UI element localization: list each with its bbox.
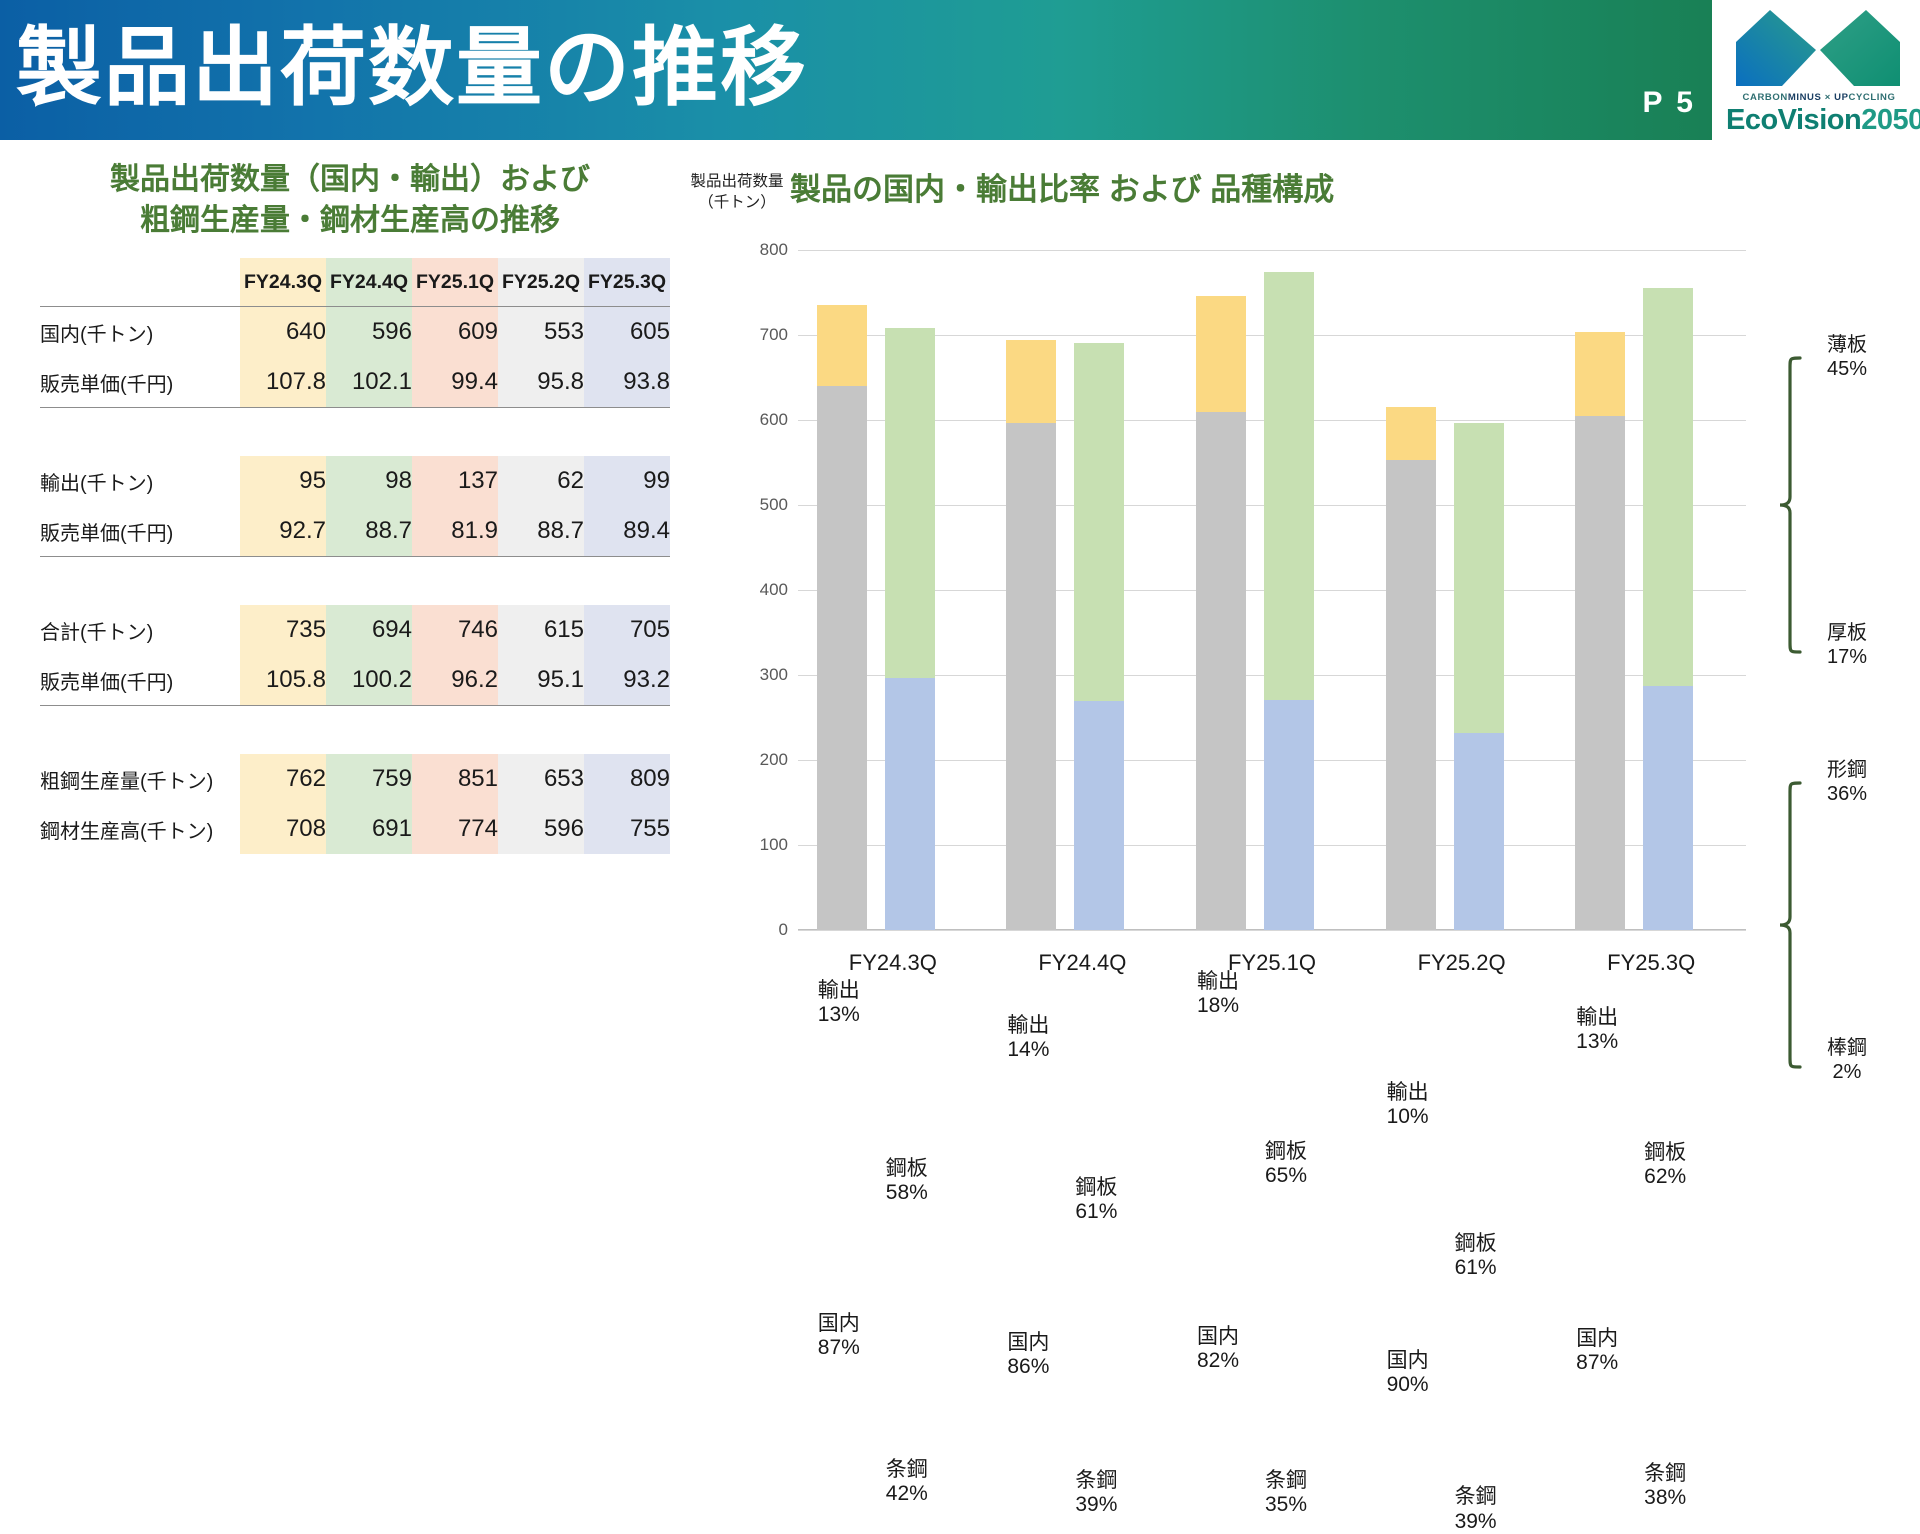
- chart-segment-label: 輸出10%: [1360, 1081, 1456, 1129]
- logo-wordmark-eco: EcoVision: [1726, 104, 1861, 136]
- chart-segment-label: 鋼板61%: [1048, 1176, 1144, 1224]
- chart-segment-name: 条鋼: [886, 1458, 928, 1481]
- chart-segment-name: 輸出: [1576, 1006, 1618, 1029]
- table-row: 販売単価(千円) 105.8 100.2 96.2 95.1 93.2: [40, 655, 670, 705]
- cell-value: 809: [584, 754, 670, 804]
- chart-bar-segment-条鋼[interactable]: [1074, 701, 1124, 931]
- left-panel-title-line2: 粗鋼生産量・鋼材生産高の推移: [10, 201, 690, 242]
- chart-segment-label: 鋼板58%: [859, 1157, 955, 1205]
- left-panel-title: 製品出荷数量（国内・輸出）および 粗鋼生産量・鋼材生産高の推移: [10, 160, 690, 241]
- chart-segment-label: 条鋼35%: [1238, 1469, 1334, 1517]
- chart-bar-segment-条鋼[interactable]: [885, 678, 935, 930]
- bracket-label-value: 45%: [1827, 358, 1867, 380]
- page-title: 製品出荷数量の推移: [16, 8, 808, 128]
- chart-segment-label: 国内87%: [1549, 1327, 1645, 1375]
- bracket-label-value: 36%: [1827, 783, 1867, 805]
- chart-bar-segment-輸出[interactable]: [1196, 296, 1246, 412]
- column-header-fy253q: FY25.3Q: [584, 258, 670, 306]
- chart-stacked-bar-shipment-ratio[interactable]: [1196, 296, 1246, 930]
- chart-segment-name: 鋼板: [1455, 1232, 1497, 1255]
- logo-tagline-up: UP: [1834, 92, 1848, 103]
- cell-value: 100.2: [326, 655, 412, 705]
- chart-segment-label: 条鋼39%: [1428, 1485, 1524, 1533]
- cell-value: 98: [326, 456, 412, 506]
- chart-segment-name: 国内: [1576, 1327, 1618, 1350]
- table-row: 販売単価(千円) 92.7 88.7 81.9 88.7 89.4: [40, 506, 670, 556]
- chart-segment-value: 39%: [1455, 1510, 1497, 1533]
- chart-bracket-bottom-label: 棒鋼2%: [1804, 1036, 1890, 1084]
- chart-bracket-top-label: 薄板45%: [1804, 333, 1890, 381]
- chart-segment-name: 輸出: [818, 979, 860, 1002]
- chart-segment-value: 13%: [1576, 1030, 1618, 1053]
- chart-stacked-bar-shipment-ratio[interactable]: [1575, 331, 1625, 930]
- chart-segment-name: 国内: [818, 1312, 860, 1335]
- chart-y-tick: 400: [736, 580, 788, 600]
- chart-bar-segment-鋼板[interactable]: [1074, 343, 1124, 701]
- table-row: 合計(千トン) 735 694 746 615 705: [40, 605, 670, 655]
- table-group-gap: [40, 706, 670, 755]
- chart-bracket-top-label: 形鋼36%: [1804, 758, 1890, 806]
- column-header-fy251q: FY25.1Q: [412, 258, 498, 306]
- logo-mark-icon: [1732, 6, 1904, 92]
- chart-segment-label: 輸出18%: [1170, 970, 1266, 1018]
- curly-brace-icon: [1776, 355, 1802, 655]
- row-label-crude-steel: 粗鋼生産量(千トン): [40, 754, 240, 804]
- cell-value: 746: [412, 605, 498, 655]
- chart-segment-value: 58%: [886, 1181, 928, 1204]
- chart-segment-label: 国内86%: [980, 1331, 1076, 1379]
- page-number: P 5: [1612, 86, 1696, 120]
- table-body: 国内(千トン) 640 596 609 553 605 販売単価(千円) 107…: [40, 307, 670, 855]
- logo-wordmark-2050: 2050: [1861, 104, 1920, 136]
- cell-value: 95: [240, 456, 326, 506]
- chart-bar-segment-国内[interactable]: [1196, 412, 1246, 930]
- cell-value: 137: [412, 456, 498, 506]
- cell-value: 553: [498, 307, 584, 358]
- cell-value: 774: [412, 804, 498, 854]
- chart-segment-value: 38%: [1644, 1486, 1686, 1509]
- chart-segment-label: 輸出13%: [791, 979, 887, 1027]
- chart-segment-name: 国内: [1007, 1331, 1049, 1354]
- chart-segment-label: 条鋼39%: [1048, 1469, 1144, 1517]
- cell-value: 95.8: [498, 357, 584, 407]
- cell-value: 93.8: [584, 357, 670, 407]
- table-row: 粗鋼生産量(千トン) 762 759 851 653 809: [40, 754, 670, 804]
- chart-x-tick-label: FY25.1Q: [1184, 950, 1360, 976]
- shipment-table: FY24.3Q FY24.4Q FY25.1Q FY25.2Q FY25.3Q …: [40, 258, 670, 854]
- chart-bar-segment-鋼板[interactable]: [885, 328, 935, 677]
- cell-value: 102.1: [326, 357, 412, 407]
- cell-value: 105.8: [240, 655, 326, 705]
- chart-stacked-bar-shipment-ratio[interactable]: [817, 305, 867, 930]
- bracket-label-value: 17%: [1827, 646, 1867, 668]
- chart-segment-value: 62%: [1644, 1165, 1686, 1188]
- column-header-fy252q: FY25.2Q: [498, 258, 584, 306]
- chart-segment-value: 87%: [818, 1336, 860, 1359]
- table-corner-cell: [40, 258, 240, 306]
- chart-segment-label: 鋼板65%: [1238, 1140, 1334, 1188]
- chart-stacked-bar-product-mix[interactable]: [1643, 288, 1693, 930]
- logo-tagline-x: ×: [1825, 92, 1831, 103]
- cell-value: 605: [584, 307, 670, 358]
- chart-bar-segment-輸出[interactable]: [1386, 407, 1436, 460]
- cell-value: 107.8: [240, 357, 326, 407]
- chart-segment-label: 国内90%: [1360, 1349, 1456, 1397]
- chart-y-tick: 300: [736, 665, 788, 685]
- row-label-total-volume: 合計(千トン): [40, 605, 240, 655]
- left-panel: 製品出荷数量（国内・輸出）および 粗鋼生産量・鋼材生産高の推移 FY24.3Q …: [0, 140, 700, 1080]
- chart-bar-segment-条鋼[interactable]: [1264, 700, 1314, 930]
- table-group-gap: [40, 408, 670, 457]
- table-row: 国内(千トン) 640 596 609 553 605: [40, 307, 670, 358]
- chart-segment-value: 42%: [886, 1482, 928, 1505]
- cell-value: 735: [240, 605, 326, 655]
- chart-bar-segment-鋼板[interactable]: [1264, 272, 1314, 700]
- chart-stacked-bar-product-mix[interactable]: [1454, 423, 1504, 930]
- chart-segment-label: 国内82%: [1170, 1325, 1266, 1373]
- row-label-domestic-volume: 国内(千トン): [40, 307, 240, 358]
- logo-wordmark: EcoVision2050: [1726, 104, 1912, 137]
- chart-stacked-bar-shipment-ratio[interactable]: [1006, 340, 1056, 930]
- cell-value: 81.9: [412, 506, 498, 556]
- ecovision-logo: CARBONMINUS × UPCYCLING EcoVision2050: [1716, 0, 1920, 140]
- chart-segment-name: 国内: [1387, 1349, 1429, 1372]
- logo-tagline-cycling: CYCLING: [1849, 92, 1896, 103]
- chart-y-axis-label-line2: （千トン）: [672, 193, 802, 214]
- chart-segment-name: 鋼板: [1265, 1140, 1307, 1163]
- row-label-total-price: 販売単価(千円): [40, 655, 240, 705]
- cell-value: 596: [326, 307, 412, 358]
- cell-value: 88.7: [498, 506, 584, 556]
- cell-value: 99: [584, 456, 670, 506]
- chart-segment-name: 条鋼: [1075, 1469, 1117, 1492]
- chart-x-tick-label: FY25.2Q: [1374, 950, 1550, 976]
- cell-value: 88.7: [326, 506, 412, 556]
- chart-segment-name: 条鋼: [1455, 1485, 1497, 1508]
- chart-plot-area: 0100200300400500600700800国内87%輸出13%条鋼42%…: [736, 250, 1746, 930]
- chart-segment-label: 条鋼38%: [1617, 1462, 1713, 1510]
- row-label-export-volume: 輸出(千トン): [40, 456, 240, 506]
- chart-segment-value: 18%: [1197, 994, 1239, 1017]
- cell-value: 96.2: [412, 655, 498, 705]
- table-row: 販売単価(千円) 107.8 102.1 99.4 95.8 93.8: [40, 357, 670, 407]
- chart-y-tick: 800: [736, 240, 788, 260]
- chart-bracket-1: [1776, 355, 1802, 655]
- chart-segment-label: 鋼板61%: [1428, 1232, 1524, 1280]
- chart-segment-name: 条鋼: [1265, 1469, 1307, 1492]
- chart-bracket-bottom-label: 厚板17%: [1804, 621, 1890, 669]
- chart-bar-segment-鋼板[interactable]: [1643, 288, 1693, 686]
- chart-stacked-bar-product-mix[interactable]: [885, 328, 935, 930]
- chart-bracket-2: [1776, 780, 1802, 1070]
- chart-segment-value: 86%: [1007, 1355, 1049, 1378]
- chart-segment-value: 14%: [1007, 1038, 1049, 1061]
- chart-segment-value: 35%: [1265, 1493, 1307, 1516]
- curly-brace-icon: [1776, 780, 1802, 1070]
- bracket-label-name: 形鋼: [1827, 759, 1867, 781]
- column-header-fy243q: FY24.3Q: [240, 258, 326, 306]
- chart-bar-segment-国内[interactable]: [817, 386, 867, 930]
- table-head: FY24.3Q FY24.4Q FY25.1Q FY25.2Q FY25.3Q: [40, 258, 670, 307]
- cell-value: 762: [240, 754, 326, 804]
- logo-tagline: CARBONMINUS × UPCYCLING: [1728, 92, 1910, 103]
- chart-segment-label: 輸出13%: [1549, 1006, 1645, 1054]
- logo-tagline-carbon: CARBON: [1743, 92, 1788, 103]
- chart-segment-value: 82%: [1197, 1349, 1239, 1372]
- table-group-gap: [40, 557, 670, 606]
- cell-value: 851: [412, 754, 498, 804]
- chart-segment-label: 鋼板62%: [1617, 1141, 1713, 1189]
- chart-bar-segment-条鋼[interactable]: [1454, 733, 1504, 930]
- chart-segment-value: 13%: [818, 1003, 860, 1026]
- chart-bar-segment-条鋼[interactable]: [1643, 686, 1693, 930]
- row-label-domestic-price: 販売単価(千円): [40, 357, 240, 407]
- chart-segment-name: 国内: [1197, 1325, 1239, 1348]
- chart-segment-name: 鋼板: [886, 1157, 928, 1180]
- chart-segment-value: 10%: [1387, 1105, 1429, 1128]
- chart-bar-segment-鋼板[interactable]: [1454, 423, 1504, 732]
- row-label-steel-products: 鋼材生産高(千トン): [40, 804, 240, 854]
- chart-segment-name: 鋼板: [1644, 1141, 1686, 1164]
- chart-x-tick-label: FY24.4Q: [994, 950, 1170, 976]
- cell-value: 653: [498, 754, 584, 804]
- chart-segment-value: 65%: [1265, 1164, 1307, 1187]
- chart-y-axis-label: 製品出荷数量 （千トン）: [672, 172, 802, 214]
- chart-x-tick-label: FY24.3Q: [805, 950, 981, 976]
- bracket-label-name: 厚板: [1827, 622, 1867, 644]
- row-label-export-price: 販売単価(千円): [40, 506, 240, 556]
- chart-y-tick: 600: [736, 410, 788, 430]
- chart-gridline: [798, 930, 1746, 931]
- column-header-fy244q: FY24.4Q: [326, 258, 412, 306]
- chart-title: 製品の国内・輸出比率 および 品種構成: [790, 164, 1334, 209]
- chart-y-tick: 200: [736, 750, 788, 770]
- chart-y-tick: 100: [736, 835, 788, 855]
- chart-segment-value: 90%: [1387, 1373, 1429, 1396]
- chart-bar-segment-国内[interactable]: [1006, 423, 1056, 930]
- chart-bar-segment-輸出[interactable]: [1575, 332, 1625, 416]
- chart-segment-name: 輸出: [1387, 1081, 1429, 1104]
- page-header: 製品出荷数量の推移 P 5 CARBONMINUS × UPCYCLING: [0, 0, 1920, 140]
- bracket-label-name: 棒鋼: [1827, 1037, 1867, 1059]
- table-row: 鋼材生産高(千トン) 708 691 774 596 755: [40, 804, 670, 854]
- chart-segment-label: 輸出14%: [980, 1014, 1076, 1062]
- bracket-label-name: 薄板: [1827, 334, 1867, 356]
- cell-value: 62: [498, 456, 584, 506]
- chart-bar-segment-国内[interactable]: [1575, 416, 1625, 930]
- chart-y-axis-label-line1: 製品出荷数量: [672, 172, 802, 193]
- chart-stacked-bar-product-mix[interactable]: [1074, 343, 1124, 930]
- cell-value: 95.1: [498, 655, 584, 705]
- chart-segment-name: 鋼板: [1075, 1176, 1117, 1199]
- cell-value: 755: [584, 804, 670, 854]
- chart-y-tick: 700: [736, 325, 788, 345]
- cell-value: 691: [326, 804, 412, 854]
- chart-y-tick: 0: [736, 920, 788, 940]
- chart-x-tick-label: FY25.3Q: [1563, 950, 1739, 976]
- chart-segment-label: 条鋼42%: [859, 1458, 955, 1506]
- cell-value: 609: [412, 307, 498, 358]
- chart-stacked-bar-shipment-ratio[interactable]: [1386, 407, 1436, 930]
- table-header-row: FY24.3Q FY24.4Q FY25.1Q FY25.2Q FY25.3Q: [40, 258, 670, 306]
- cell-value: 93.2: [584, 655, 670, 705]
- chart-segment-name: 条鋼: [1644, 1462, 1686, 1485]
- table-row: 輸出(千トン) 95 98 137 62 99: [40, 456, 670, 506]
- cell-value: 89.4: [584, 506, 670, 556]
- chart-segment-value: 87%: [1576, 1351, 1618, 1374]
- chart-gridline: [798, 250, 1746, 251]
- chart-y-tick: 500: [736, 495, 788, 515]
- chart-bar-segment-輸出[interactable]: [1006, 340, 1056, 423]
- cell-value: 759: [326, 754, 412, 804]
- chart-bar-segment-輸出[interactable]: [817, 305, 867, 386]
- cell-value: 596: [498, 804, 584, 854]
- chart-bar-segment-国内[interactable]: [1386, 460, 1436, 930]
- cell-value: 705: [584, 605, 670, 655]
- cell-value: 99.4: [412, 357, 498, 407]
- cell-value: 708: [240, 804, 326, 854]
- shipment-table-wrapper: FY24.3Q FY24.4Q FY25.1Q FY25.2Q FY25.3Q …: [40, 258, 670, 854]
- chart-segment-label: 国内87%: [791, 1312, 887, 1360]
- left-panel-title-line1: 製品出荷数量（国内・輸出）および: [10, 160, 690, 201]
- cell-value: 92.7: [240, 506, 326, 556]
- right-panel: 製品出荷数量 （千トン） 製品の国内・輸出比率 および 品種構成 0100200…: [700, 140, 1920, 1080]
- cell-value: 640: [240, 307, 326, 358]
- chart-segment-value: 39%: [1075, 1493, 1117, 1516]
- logo-tagline-minus: MINUS: [1788, 92, 1822, 103]
- cell-value: 694: [326, 605, 412, 655]
- cell-value: 615: [498, 605, 584, 655]
- chart-segment-name: 輸出: [1007, 1014, 1049, 1037]
- chart-stacked-bar-product-mix[interactable]: [1264, 272, 1314, 930]
- chart-segment-value: 61%: [1455, 1256, 1497, 1279]
- chart-segment-value: 61%: [1075, 1200, 1117, 1223]
